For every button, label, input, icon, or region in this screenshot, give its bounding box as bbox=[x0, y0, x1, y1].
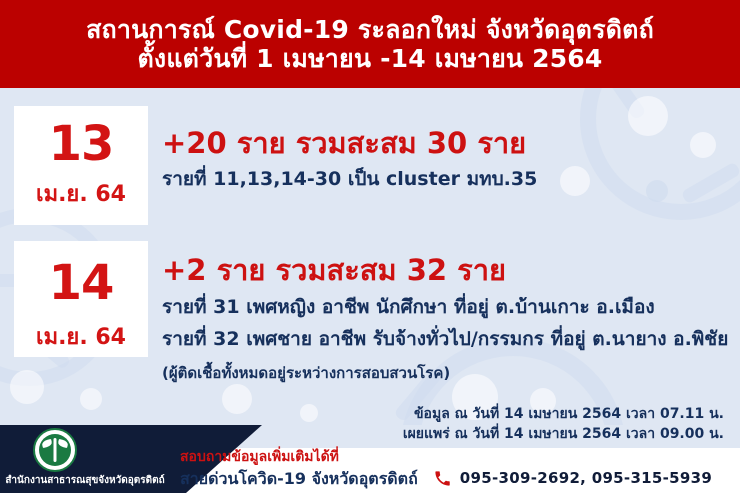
date-month-year: เม.ย. 64 bbox=[14, 326, 148, 350]
day-entry-13-april: 13 เม.ย. 64 +20 ราย รวมสะสม 30 ราย รายที… bbox=[14, 106, 537, 225]
virus-dot-icon bbox=[80, 388, 102, 410]
header-title-line-2: ตั้งแต่วันที่ 1 เมษายน -14 เมษายน 2564 bbox=[137, 44, 602, 73]
date-month-year: เม.ย. 64 bbox=[14, 183, 148, 207]
date-day-number: 13 bbox=[14, 118, 148, 171]
caduceus-wing-right-icon bbox=[57, 439, 68, 448]
day-body: +20 ราย รวมสะสม 30 ราย รายที่ 11,13,14-3… bbox=[162, 106, 537, 193]
case-detail-line: รายที่ 11,13,14-30 เป็น cluster มทบ.35 bbox=[162, 167, 537, 193]
date-card: 13 เม.ย. 64 bbox=[14, 106, 148, 225]
date-day-number: 14 bbox=[14, 257, 148, 310]
date-card: 14 เม.ย. 64 bbox=[14, 241, 148, 357]
investigation-note: (ผู้ติดเชื้อทั้งหมดอยู่ระหว่างการสอบสวนโ… bbox=[162, 364, 728, 384]
day-body: +2 ราย รวมสะสม 32 ราย รายที่ 31 เพศหญิง … bbox=[162, 241, 728, 384]
case-summary-line: +20 ราย รวมสะสม 30 ราย bbox=[162, 128, 537, 160]
poster-footer: สำนักงานสาธารณสุขจังหวัดอุตรดิตถ์ สอบถาม… bbox=[0, 425, 740, 493]
case-detail-line: รายที่ 32 เพศชาย อาชีพ รับจ้างทั่วไป/กรร… bbox=[162, 327, 728, 353]
case-detail-line: รายที่ 31 เพศหญิง อาชีพ นักศึกษา ที่อยู่… bbox=[162, 295, 728, 321]
moph-logo-icon bbox=[33, 428, 77, 472]
virus-dot-icon bbox=[628, 96, 668, 136]
virus-spike-icon bbox=[599, 88, 646, 120]
caduceus-icon bbox=[54, 438, 57, 462]
caduceus-wing-left-icon bbox=[41, 439, 52, 448]
organization-name: สำนักงานสาธารณสุขจังหวัดอุตรดิตถ์ bbox=[5, 475, 165, 487]
data-as-of-text: ข้อมูล ณ วันที่ 14 เมษายน 2564 เวลา 07.1… bbox=[403, 404, 724, 424]
phone-icon bbox=[434, 470, 451, 487]
case-summary-line: +2 ราย รวมสะสม 32 ราย bbox=[162, 255, 728, 287]
poster-header: สถานการณ์ Covid-19 ระลอกใหม่ จังหวัดอุตร… bbox=[0, 0, 740, 88]
virus-dot-icon bbox=[646, 180, 668, 202]
footer-contact-block: สอบถามข้อมูลเพิ่มเติมได้ที่ สายด่วนโควิด… bbox=[180, 449, 712, 488]
hotline-label: สายด่วนโควิด-19 จังหวัดอุตรดิตถ์ bbox=[180, 469, 418, 488]
virus-spike-icon bbox=[681, 161, 740, 204]
moph-logo-inner-disc bbox=[39, 434, 71, 466]
header-title-line-1: สถานการณ์ Covid-19 ระลอกใหม่ จังหวัดอุตร… bbox=[86, 15, 654, 44]
hotline-row: สายด่วนโควิด-19 จังหวัดอุตรดิตถ์ 095-309… bbox=[180, 469, 712, 488]
contact-heading: สอบถามข้อมูลเพิ่มเติมได้ที่ bbox=[180, 449, 712, 467]
covid-infographic-poster: สถานการณ์ Covid-19 ระลอกใหม่ จังหวัดอุตร… bbox=[0, 0, 740, 493]
virus-dot-icon bbox=[690, 132, 716, 158]
day-entry-14-april: 14 เม.ย. 64 +2 ราย รวมสะสม 32 ราย รายที่… bbox=[14, 241, 728, 384]
virus-dot-icon bbox=[222, 384, 252, 414]
virus-dot-icon bbox=[560, 166, 590, 196]
phone-numbers: 095-309-2692, 095-315-5939 bbox=[460, 469, 712, 487]
virus-ring-icon bbox=[580, 88, 740, 220]
virus-dot-icon bbox=[300, 404, 318, 422]
